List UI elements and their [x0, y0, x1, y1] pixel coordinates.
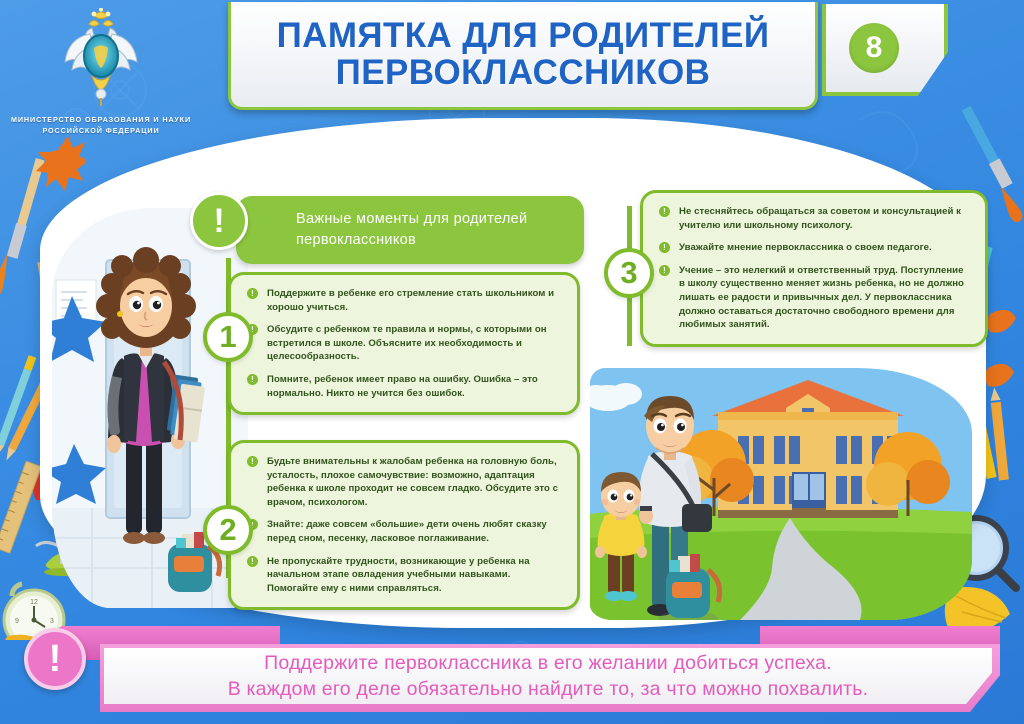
exclamation-bullet-icon: ! [247, 374, 258, 385]
advice-box-1: !Поддержите в ребенке его стремление ста… [228, 272, 580, 415]
footer-text: Поддержите первоклассника в его желании … [228, 650, 869, 703]
list-item: !Учение – это нелегкий и ответственный т… [659, 264, 971, 332]
list-item: !Знайте: даже совсем «большие» дети очен… [247, 518, 563, 545]
exclamation-bullet-icon: ! [659, 265, 670, 276]
exclamation-mark-icon: ! [24, 628, 86, 690]
section-header-text: Важные моменты для родителей первоклассн… [296, 209, 584, 251]
list-item: !Не пропускайте трудности, возникающие у… [247, 555, 563, 596]
step-number-badge-1: 1 [203, 312, 253, 362]
father-and-schoolboy-in-front-of-school-illustration [590, 368, 972, 620]
ministry-caption-line1: МИНИСТЕРСТВО ОБРАЗОВАНИЯ И НАУКИ [11, 115, 191, 124]
advice-list-3: !Не стесняйтесь обращаться за советом и … [659, 205, 971, 332]
list-item: !Поддержите в ребенке его стремление ста… [247, 287, 563, 314]
exclamation-bullet-icon: ! [659, 242, 670, 253]
page-title: ПАМЯТКА ДЛЯ РОДИТЕЛЕЙ ПЕРВОКЛАССНИКОВ [277, 18, 770, 90]
section-header-pill: Важные моменты для родителей первоклассн… [236, 196, 584, 264]
list-item: !Уважайте мнение первоклассника о своем … [659, 241, 971, 255]
exclamation-bullet-icon: ! [247, 288, 258, 299]
advice-text: Не пропускайте трудности, возникающие у … [267, 556, 530, 594]
advice-text: Поддержите в ребенке его стремление стат… [267, 288, 554, 313]
poster-root: 123 69 [0, 0, 1024, 724]
exclamation-bullet-icon: ! [247, 456, 258, 467]
svg-text:3: 3 [50, 618, 54, 625]
page-number-badge: 8 [849, 23, 899, 73]
list-item: !Будьте внимательны к жалобам ребенка на… [247, 455, 563, 509]
ministry-emblem-block: МИНИСТЕРСТВО ОБРАЗОВАНИЯ И НАУКИ РОССИЙС… [6, 8, 196, 137]
exclamation-bullet-icon: ! [247, 556, 258, 567]
ministry-caption: МИНИСТЕРСТВО ОБРАЗОВАНИЯ И НАУКИ РОССИЙС… [6, 115, 196, 137]
advice-box-3: !Не стесняйтесь обращаться за советом и … [640, 190, 988, 347]
title-plate: ПАМЯТКА ДЛЯ РОДИТЕЛЕЙ ПЕРВОКЛАССНИКОВ [228, 2, 818, 110]
advice-text: Учение – это нелегкий и ответственный тр… [679, 265, 964, 330]
advice-list-2: !Будьте внимательны к жалобам ребенка на… [247, 455, 563, 595]
advice-list-1: !Поддержите в ребенке его стремление ста… [247, 287, 563, 400]
advice-text: Будьте внимательны к жалобам ребенка на … [267, 456, 558, 508]
advice-box-2: !Будьте внимательны к жалобам ребенка на… [228, 440, 580, 610]
advice-text: Обсудите с ребенком те правила и нормы, … [267, 324, 547, 362]
exclamation-mark-icon: ! [190, 192, 248, 250]
title-line-1: ПАМЯТКА ДЛЯ РОДИТЕЛЕЙ [277, 16, 770, 55]
ministry-caption-line2: РОССИЙСКОЙ ФЕДЕРАЦИИ [42, 126, 159, 135]
russian-eagle-emblem-icon [58, 8, 144, 108]
title-line-2: ПЕРВОКЛАССНИКОВ [336, 53, 711, 92]
footer-ribbon-inner: Поддержите первоклассника в его желании … [104, 648, 992, 704]
svg-text:12: 12 [30, 599, 38, 606]
footer-line-1: Поддержите первоклассника в его желании … [264, 652, 832, 674]
svg-text:9: 9 [15, 618, 19, 625]
advice-text: Уважайте мнение первоклассника о своем п… [679, 242, 932, 253]
list-item: !Не стесняйтесь обращаться за советом и … [659, 205, 971, 232]
footer-line-2: В каждом его деле обязательно найдите то… [228, 678, 869, 700]
step-number-badge-2: 2 [203, 505, 253, 555]
step-number-badge-3: 3 [604, 248, 654, 298]
exclamation-bullet-icon: ! [659, 206, 670, 217]
advice-text: Помните, ребенок имеет право на ошибку. … [267, 374, 538, 399]
advice-text: Не стесняйтесь обращаться за советом и к… [679, 206, 961, 231]
list-item: !Помните, ребенок имеет право на ошибку.… [247, 373, 563, 400]
advice-text: Знайте: даже совсем «большие» дети очень… [267, 519, 547, 544]
list-item: !Обсудите с ребенком те правила и нормы,… [247, 323, 563, 364]
